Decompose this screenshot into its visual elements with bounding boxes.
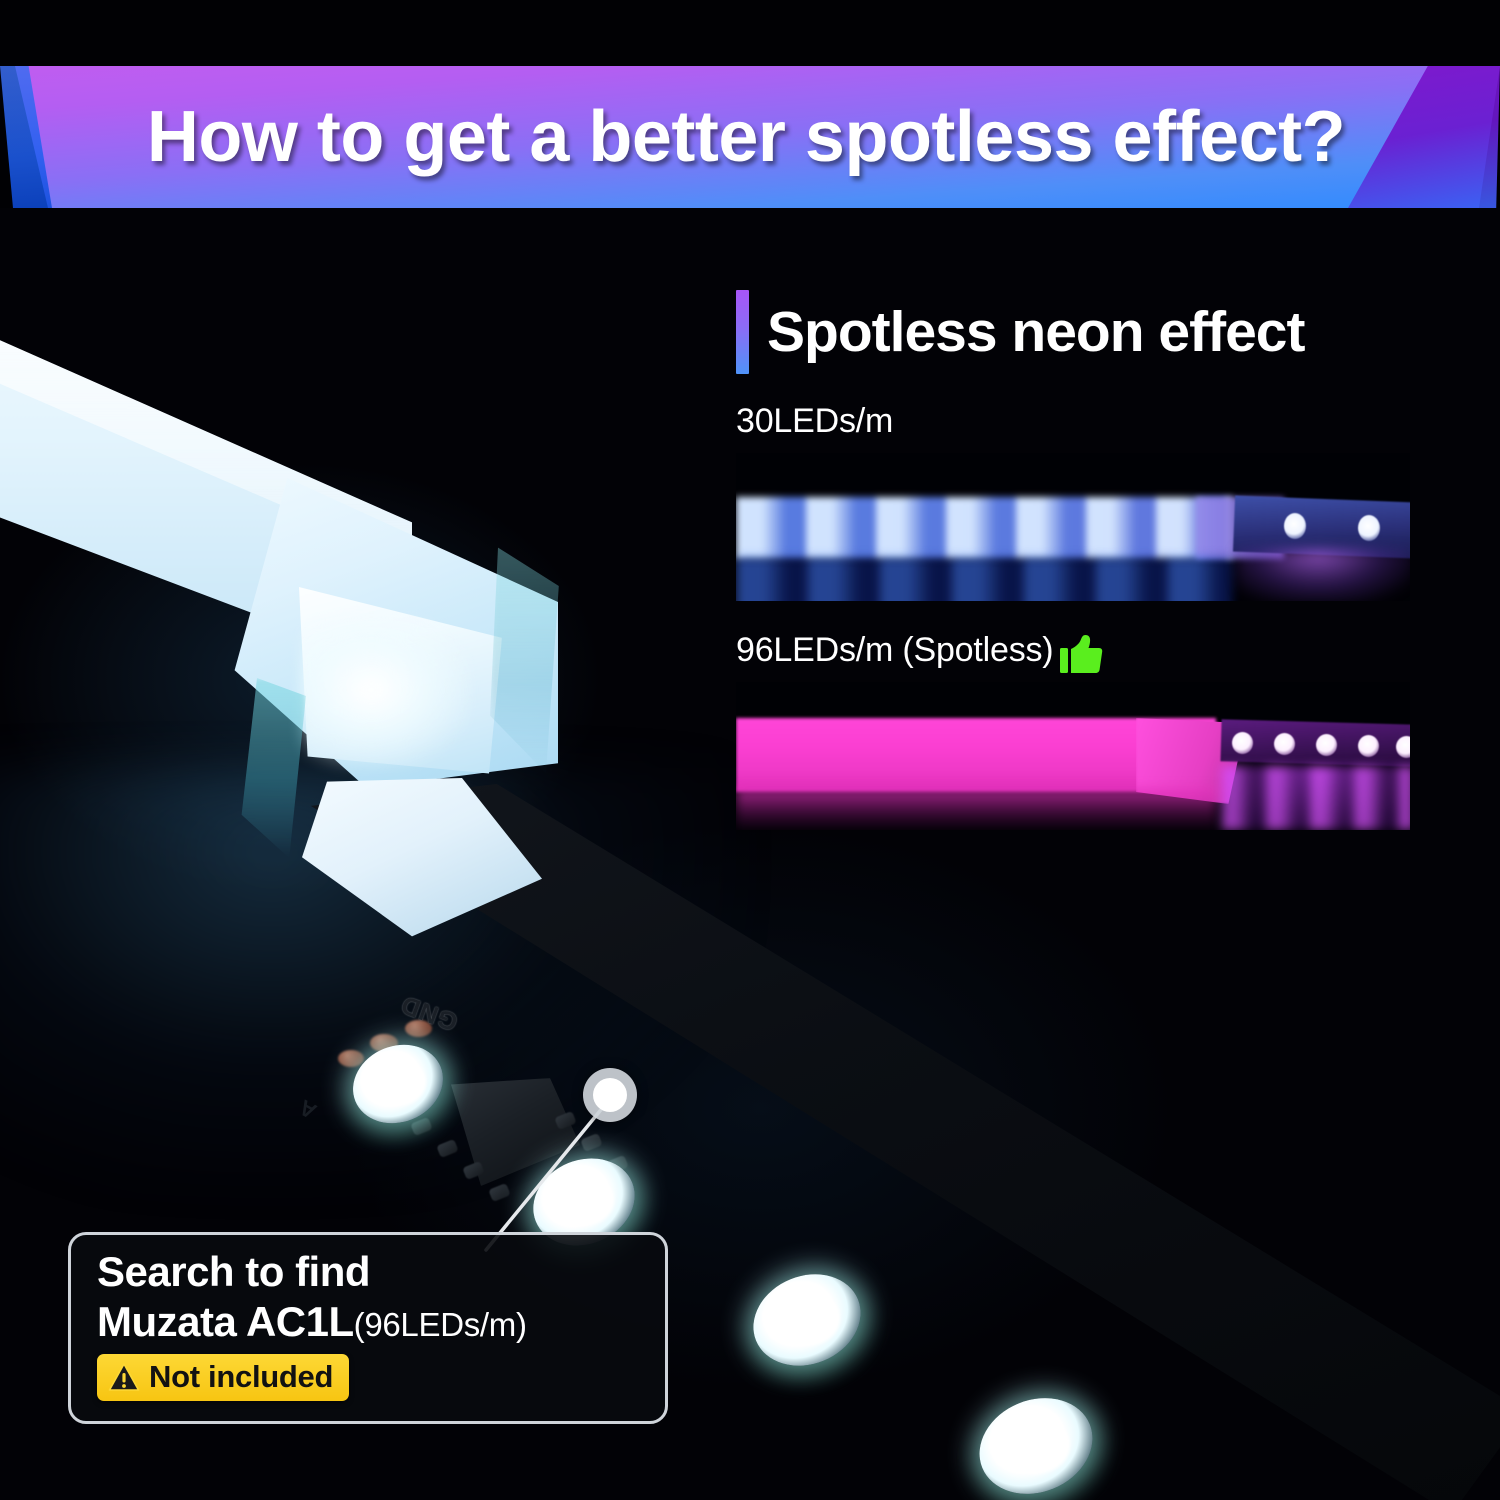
comparison-image-30leds <box>736 453 1410 601</box>
callout-brand-name: Muzata AC1L <box>97 1298 354 1345</box>
comparison-section: Spotless neon effect 30LEDs/m 96LEDs/m (… <box>736 290 1456 830</box>
neon-tube-spotty-reflection <box>736 557 1232 601</box>
comparison-label-96leds-text: 96LEDs/m (Spotless) <box>736 631 1053 670</box>
callout-line-1: Search to find <box>97 1251 645 1293</box>
callout-spec: (96LEDs/m) <box>354 1306 527 1343</box>
comparison-label-96leds: 96LEDs/m (Spotless) <box>736 631 1456 670</box>
solder-pad <box>338 1050 364 1067</box>
banner-title: How to get a better spotless effect? <box>0 66 1500 208</box>
bare-led-96 <box>1396 736 1410 758</box>
bare-led-96 <box>1358 735 1379 757</box>
callout-line-2: Muzata AC1L(96LEDs/m) <box>97 1301 645 1343</box>
not-included-badge-text: Not included <box>149 1359 333 1395</box>
section-heading-text: Spotless neon effect <box>767 299 1304 365</box>
warning-triangle-icon <box>108 1362 140 1392</box>
led-core <box>772 1290 840 1346</box>
comparison-label-30leds-text: 30LEDs/m <box>736 402 893 441</box>
not-included-badge: Not included <box>97 1354 349 1401</box>
bare-strip-glow-96 <box>1222 766 1410 830</box>
bare-led-96 <box>1316 734 1337 756</box>
bare-led-30 <box>1358 515 1380 541</box>
heading-accent-bar <box>736 290 749 374</box>
neon-tube-spotless-reflection <box>736 788 1216 830</box>
header-banner: How to get a better spotless effect? <box>0 66 1500 208</box>
led-core <box>550 1174 614 1226</box>
led-core <box>998 1416 1070 1474</box>
callout-box: Search to find Muzata AC1L(96LEDs/m) Not… <box>68 1232 668 1424</box>
thumbs-up-icon <box>1059 634 1103 674</box>
bare-led-96 <box>1274 733 1295 755</box>
comparison-label-30leds: 30LEDs/m <box>736 402 1456 441</box>
comparison-image-96leds <box>736 682 1410 830</box>
callout-dot-marker <box>593 1078 627 1112</box>
section-heading: Spotless neon effect <box>736 290 1456 374</box>
product-infographic: How to get a better spotless effect? GND… <box>0 0 1500 1500</box>
bare-strip-glow-30 <box>1236 549 1410 601</box>
bare-led-96 <box>1232 732 1253 754</box>
bare-led-30 <box>1284 513 1306 539</box>
led-core <box>368 1058 426 1106</box>
neon-tube-spotty <box>736 497 1232 559</box>
diffuser-tube-inner-glow <box>300 618 470 768</box>
